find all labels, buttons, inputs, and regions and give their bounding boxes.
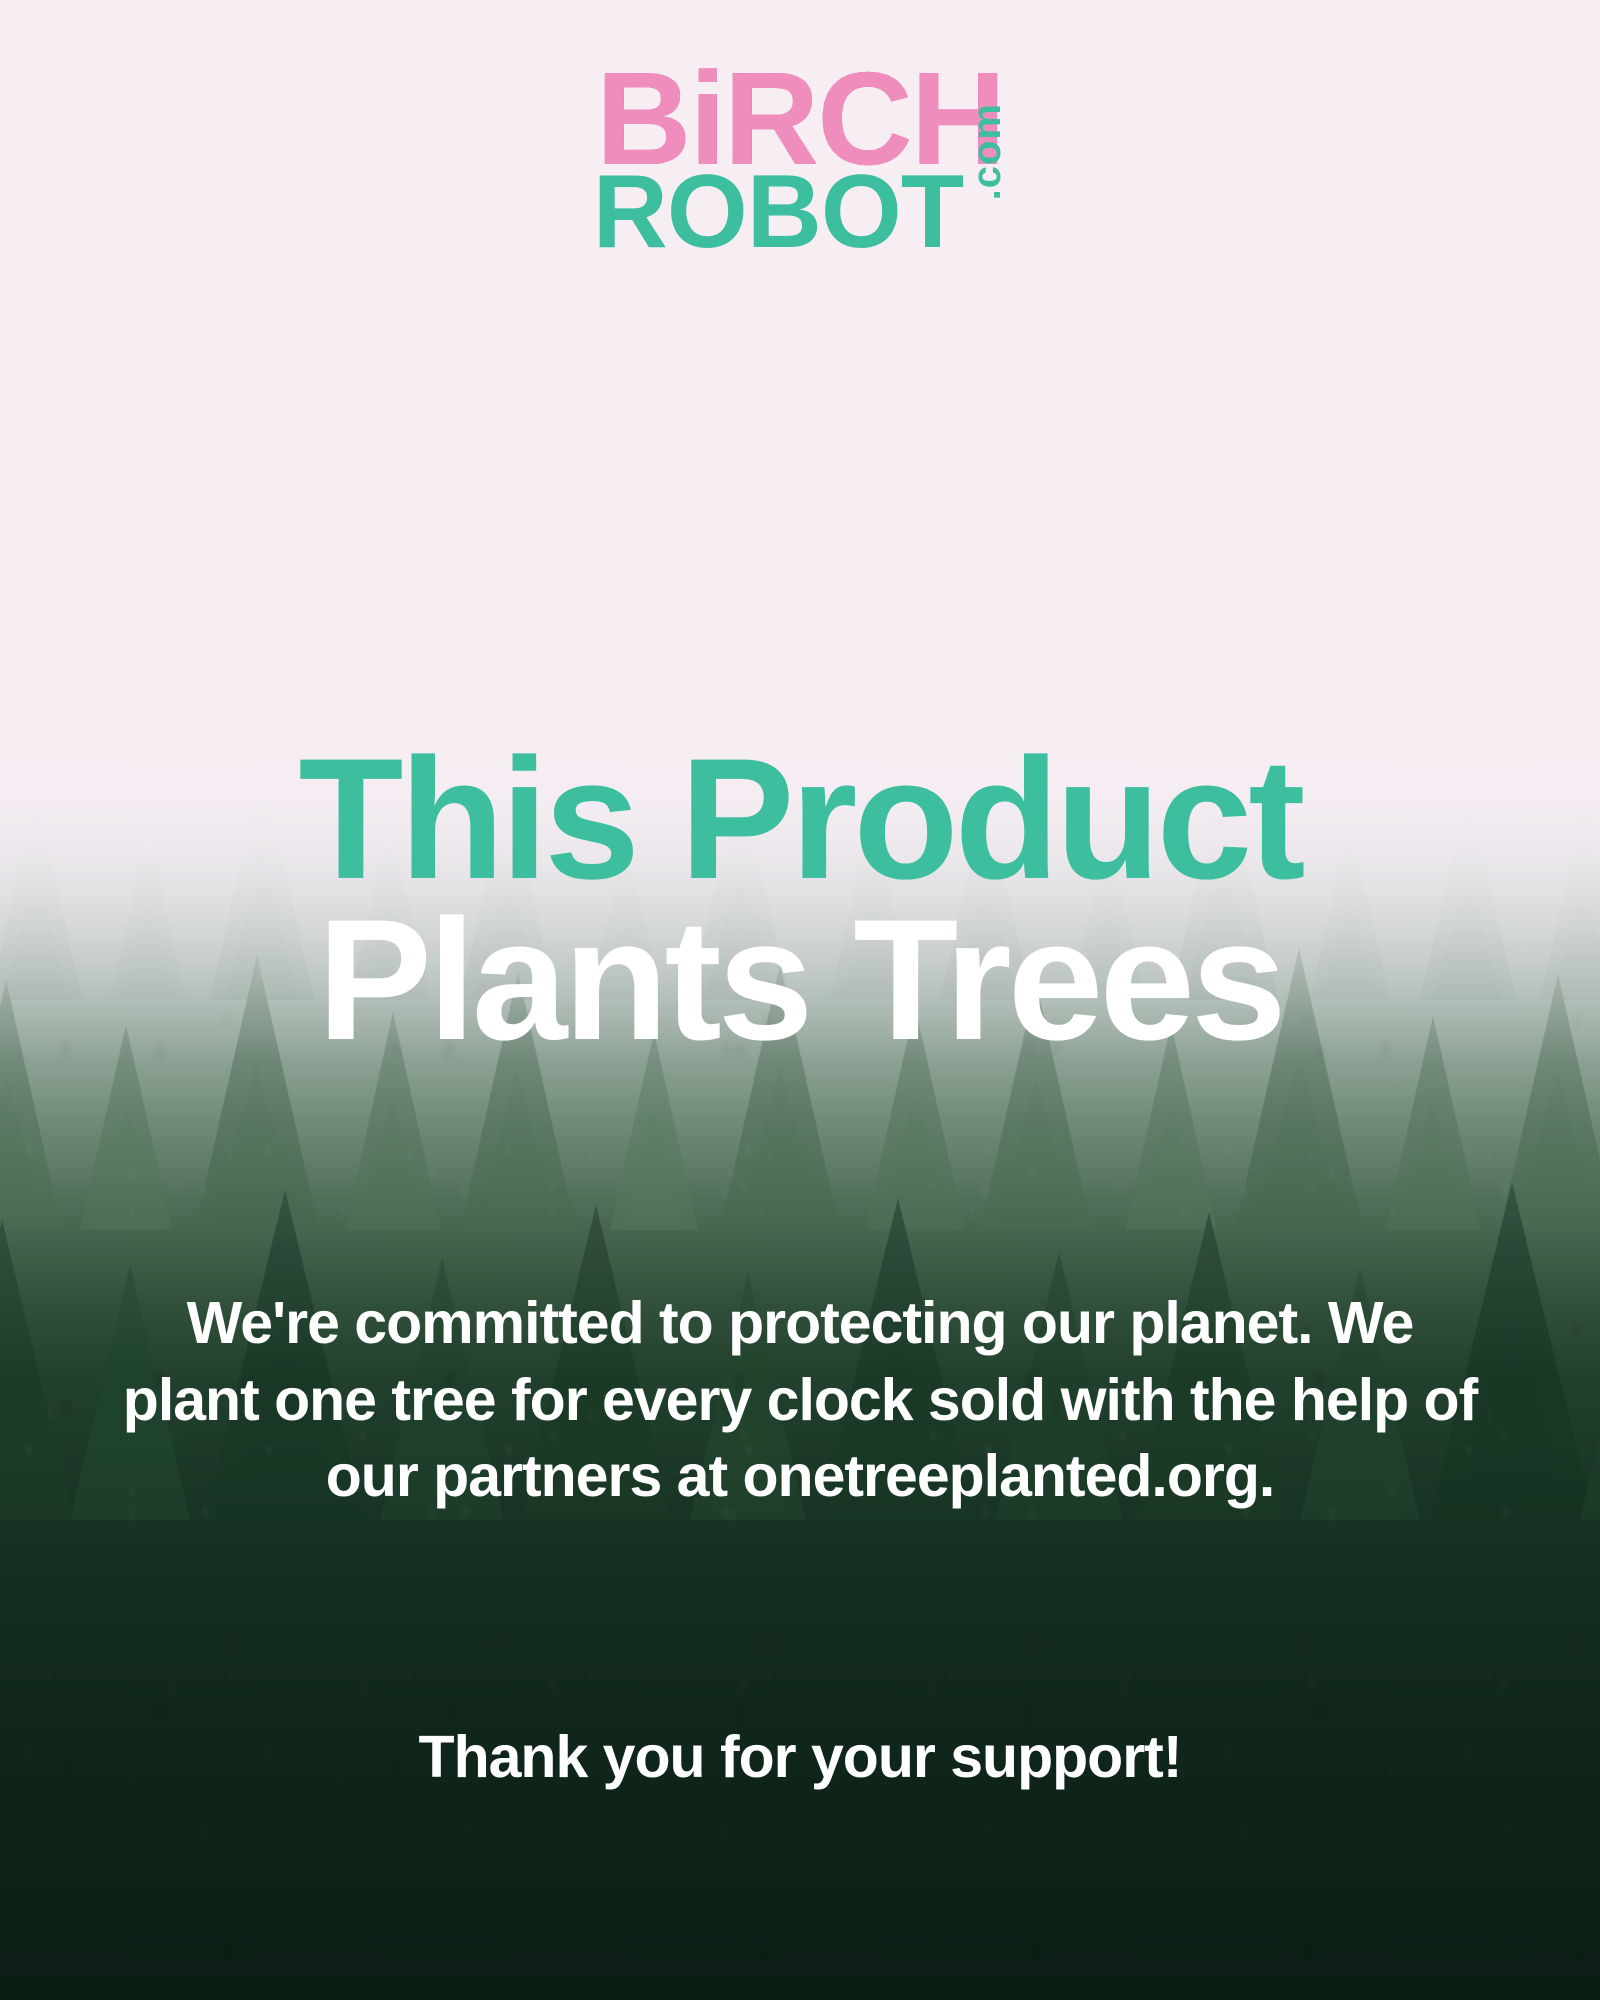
thank-you-message: Thank you for your support! — [120, 1723, 1480, 1791]
page-title: This Product Plants Trees — [0, 742, 1600, 1058]
logo-birch-row: BiRCH BiRCH — [596, 58, 1004, 179]
headline-line-1: This Product — [0, 742, 1600, 897]
poster-canvas: BiRCH BiRCH ROBOT .com This Product Plan… — [0, 0, 1600, 2000]
body-paragraph: We're committed to protecting our planet… — [120, 1285, 1480, 1515]
logo-text-dotcom: .com — [967, 103, 1007, 200]
logo-birch-label: BiRCH — [596, 45, 1004, 192]
canopy-shadow — [0, 1440, 1600, 2000]
headline-line-2: Plants Trees — [0, 903, 1600, 1058]
brand-logo[interactable]: BiRCH BiRCH ROBOT .com — [0, 58, 1600, 261]
logo-text-birch: BiRCH BiRCH — [596, 58, 1004, 179]
